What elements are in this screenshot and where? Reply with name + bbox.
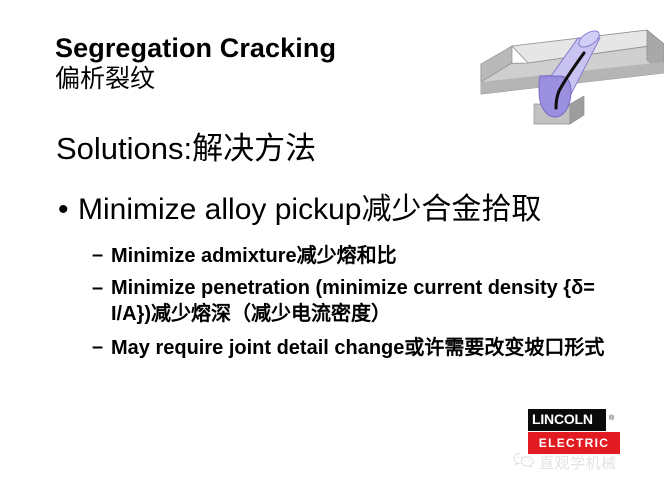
sub-bullet-text-cn: 或许需要改变坡口形式 (404, 335, 604, 359)
title-chinese: 偏析裂纹 (55, 64, 455, 94)
solutions-label-en: Solutions: (56, 131, 192, 166)
bullet-text-cn: 减少合金拾取 (361, 192, 541, 227)
sub-bullet-marker-icon: – (92, 335, 111, 359)
wechat-icon (513, 452, 535, 474)
wechat-watermark: 直观学机械 (513, 452, 617, 474)
slide-title-block: Segregation Cracking 偏析裂纹 (55, 34, 455, 94)
bullet-text-en: Minimize alloy pickup (78, 193, 361, 226)
sub-bullet-text: May require joint detail change或许需要改变坡口形… (111, 335, 604, 360)
weld-joint-illustration (472, 16, 664, 132)
sub-bullet-text-en: Minimize admixture (111, 245, 297, 267)
backing-bar-side (570, 96, 584, 124)
sub-bullet-text: Minimize penetration (minimize current d… (111, 276, 626, 326)
bullet-marker-icon: • (58, 193, 78, 227)
sub-bullet-minimize-penetration: – Minimize penetration (minimize current… (92, 276, 652, 326)
lincoln-electric-logo: LINCOLN ® ELECTRIC (528, 409, 626, 454)
logo-electric-text: ELECTRIC (539, 436, 609, 450)
sub-bullet-text-cn: 减少熔和比 (297, 243, 397, 267)
sub-bullet-text-cn: 减少熔深（减少电流密度） (151, 301, 391, 325)
sub-bullet-joint-detail-change: – May require joint detail change或许需要改变坡… (92, 335, 652, 360)
watermark-text: 直观学机械 (539, 456, 617, 471)
registered-trademark-icon: ® (609, 415, 614, 422)
solutions-label-cn: 解决方法 (192, 131, 316, 167)
sub-bullet-list: – Minimize admixture减少熔和比 – Minimize pen… (92, 243, 652, 369)
logo-lincoln-text: LINCOLN (532, 411, 593, 427)
sub-bullet-marker-icon: – (92, 243, 111, 267)
presentation-slide: Segregation Cracking 偏析裂纹 (0, 0, 669, 493)
sub-bullet-text-en: May require joint detail change (111, 337, 404, 359)
solutions-heading: Solutions:解决方法 (56, 132, 316, 167)
sub-bullet-marker-icon: – (92, 276, 111, 300)
bullet-text: Minimize alloy pickup减少合金拾取 (78, 193, 541, 227)
logo-lincoln-bar: LINCOLN ® (528, 409, 606, 431)
bullet-minimize-alloy-pickup: • Minimize alloy pickup减少合金拾取 (58, 193, 541, 227)
logo-electric-bar: ELECTRIC (528, 432, 620, 454)
sub-bullet-text: Minimize admixture减少熔和比 (111, 243, 397, 268)
sub-bullet-minimize-admixture: – Minimize admixture减少熔和比 (92, 243, 652, 268)
title-english: Segregation Cracking (55, 34, 455, 63)
